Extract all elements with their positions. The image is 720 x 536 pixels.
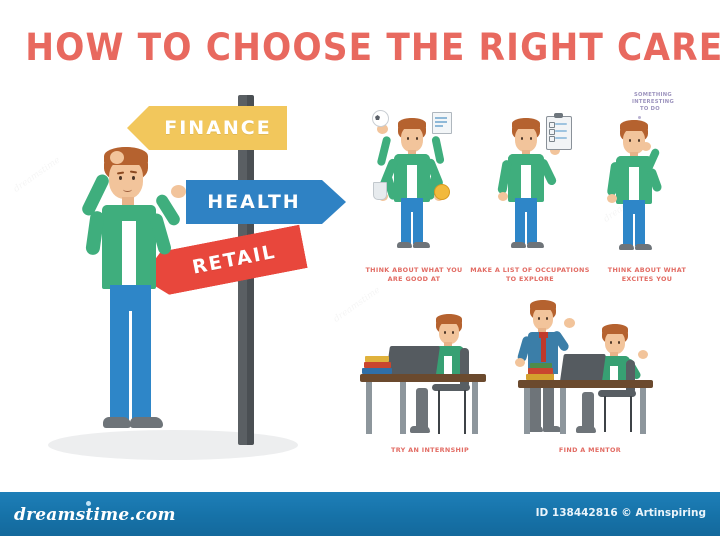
sign-health[interactable]: HEALTH <box>186 180 346 224</box>
soccer-ball-icon <box>372 110 389 127</box>
thought-line-3: TO DO <box>640 106 660 112</box>
caption-step-1-line1: THINK ABOUT WHAT YOU <box>358 266 470 275</box>
thought-line-1: SOMETHING <box>634 92 672 98</box>
scene-internship <box>360 300 505 440</box>
caption-step-4-line1: TRY AN INTERNSHIP <box>378 446 482 455</box>
step-figure-list <box>492 96 572 256</box>
caption-step-1: THINK ABOUT WHAT YOU ARE GOOD AT <box>358 266 470 283</box>
watermark: dreamstime <box>12 155 62 194</box>
sign-finance[interactable]: FINANCE <box>127 106 287 150</box>
thought-line-2: INTERESTING <box>632 99 674 105</box>
caption-step-2-line1: MAKE A LIST OF OCCUPATIONS <box>466 266 594 275</box>
caption-step-5: FIND A MENTOR <box>538 446 642 455</box>
caption-step-1-line2: ARE GOOD AT <box>358 275 470 284</box>
page-title: HOW TO CHOOSE THE RIGHT CAREER <box>25 26 695 69</box>
caption-step-2: MAKE A LIST OF OCCUPATIONS TO EXPLORE <box>466 266 594 283</box>
caption-step-3: THINK ABOUT WHAT EXCITES YOU <box>592 266 702 283</box>
caption-step-3-line1: THINK ABOUT WHAT <box>592 266 702 275</box>
step-figure-thinking: SOMETHING INTERESTING TO DO <box>608 96 688 256</box>
sign-finance-label: FINANCE <box>149 117 287 139</box>
caption-step-5-line1: FIND A MENTOR <box>538 446 642 455</box>
image-credit: ID 138442816 © Artinspiring <box>536 507 706 519</box>
caption-step-3-line2: EXCITES YOU <box>592 275 702 284</box>
sign-health-label: HEALTH <box>186 191 322 213</box>
dreamstime-logo[interactable]: dreamstime.com <box>14 505 176 525</box>
step-figure-talents <box>372 96 452 256</box>
coin-icon <box>434 184 450 200</box>
caption-step-4: TRY AN INTERNSHIP <box>378 446 482 455</box>
poster-canvas: HOW TO CHOOSE THE RIGHT CAREER dreamstim… <box>0 0 720 536</box>
dreamstime-logo-dot <box>86 501 91 506</box>
document-icon <box>432 112 452 134</box>
confused-person-illustration <box>70 145 200 445</box>
scene-mentor <box>510 296 675 441</box>
beaker-icon <box>373 182 387 200</box>
caption-step-2-line2: TO EXPLORE <box>466 275 594 284</box>
